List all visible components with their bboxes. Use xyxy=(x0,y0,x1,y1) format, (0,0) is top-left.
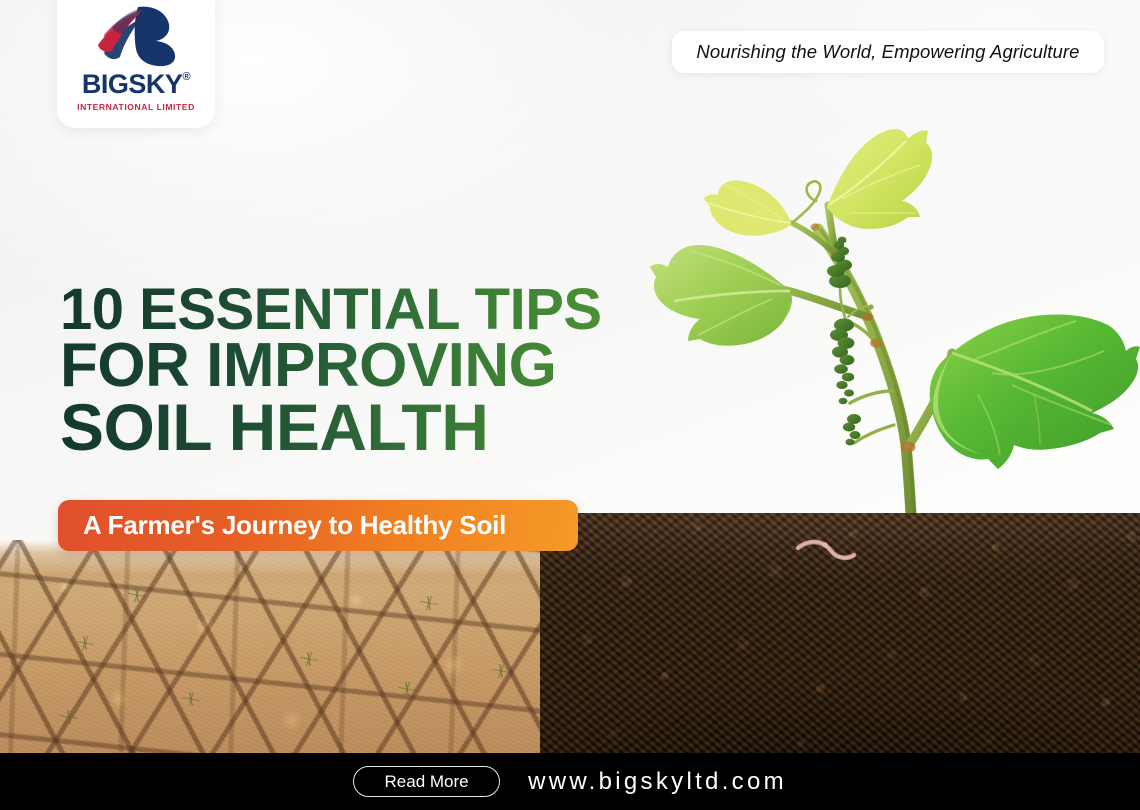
weed-sprig xyxy=(60,710,78,724)
logo-subtitle: INTERNATIONAL LIMITED xyxy=(77,102,195,112)
brand-logo-card[interactable]: BIGSKY ® INTERNATIONAL LIMITED xyxy=(57,0,215,128)
weed-sprig xyxy=(128,588,146,602)
website-url[interactable]: www.bigskyltd.com xyxy=(528,768,787,796)
grape-vine-seedling xyxy=(640,95,1140,535)
read-more-button[interactable]: Read More xyxy=(353,766,500,797)
logo-wordmark-text: BIGSKY xyxy=(82,71,183,98)
weed-sprig xyxy=(420,596,438,610)
poster-canvas: BIGSKY ® INTERNATIONAL LIMITED Nourishin… xyxy=(0,0,1140,810)
grape-vine-seedling-icon xyxy=(640,95,1140,535)
weed-sprig xyxy=(492,664,510,678)
footer-bar: Read More www.bigskyltd.com xyxy=(0,753,1140,810)
logo-wordmark: BIGSKY ® xyxy=(82,71,190,98)
weed-sprig xyxy=(182,692,200,706)
weed-sprig xyxy=(76,636,94,650)
earthworm xyxy=(795,536,857,562)
page-title: 10 ESSENTIAL TIPS FOR IMPROVING SOIL HEA… xyxy=(60,282,620,459)
weed-sprig xyxy=(300,652,318,666)
earthworm-icon xyxy=(795,536,857,562)
headline-line-1: 10 ESSENTIAL TIPS xyxy=(60,282,620,337)
registered-trademark-icon: ® xyxy=(182,72,190,83)
tagline-badge: Nourishing the World, Empowering Agricul… xyxy=(672,31,1104,73)
tagline-text: Nourishing the World, Empowering Agricul… xyxy=(696,41,1079,63)
headline-line-2: FOR IMPROVING xyxy=(60,337,620,396)
cracked-dry-soil xyxy=(0,540,540,755)
bigsky-swoosh-b-logo-icon xyxy=(90,5,182,67)
subtitle-badge: A Farmer's Journey to Healthy Soil xyxy=(58,500,578,551)
weed-sprig xyxy=(398,682,416,696)
headline-line-3: SOIL HEALTH xyxy=(60,396,620,459)
subtitle-text: A Farmer's Journey to Healthy Soil xyxy=(58,510,506,541)
